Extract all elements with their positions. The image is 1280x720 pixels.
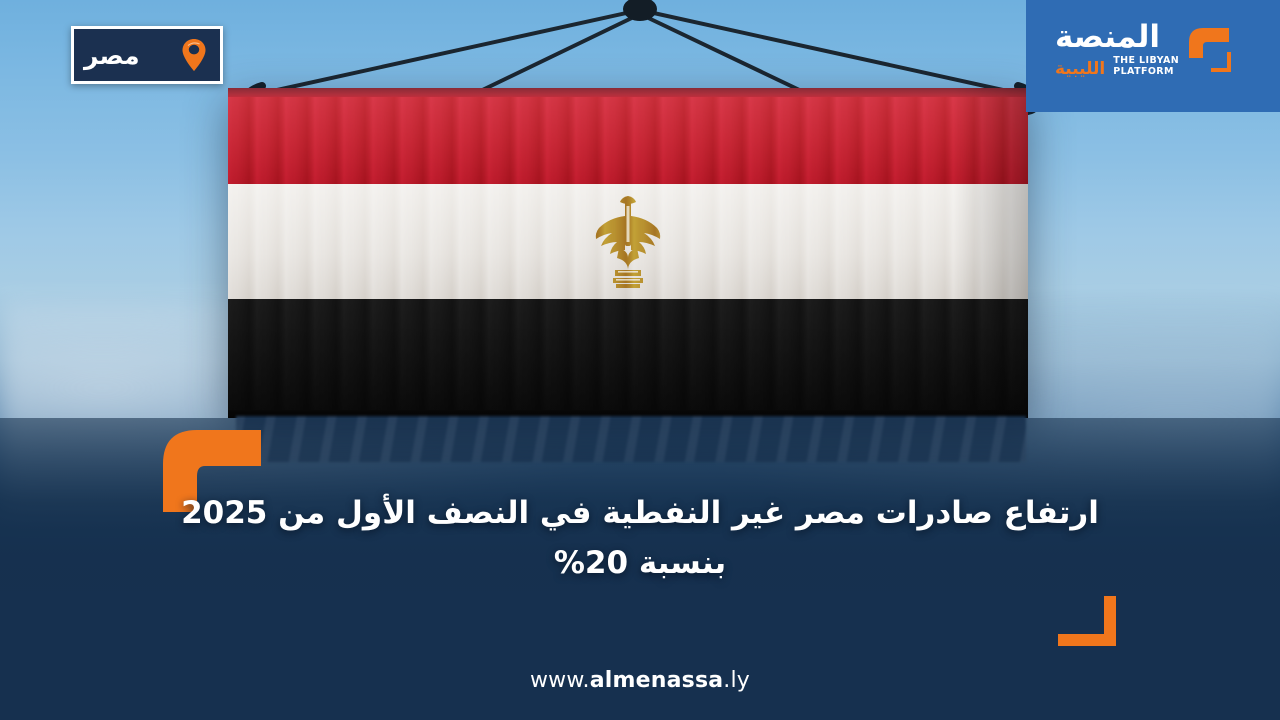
shipping-container-with-egypt-flag xyxy=(228,88,1028,418)
country-badge-label: مصر xyxy=(84,43,140,68)
container-gloss xyxy=(228,88,1028,418)
logo-english-line2: PLATFORM xyxy=(1113,66,1174,77)
headline-line-2: بنسبة 20% xyxy=(150,538,1130,588)
country-badge[interactable]: مصر xyxy=(71,26,223,84)
container-underside-ribs xyxy=(236,416,1026,462)
site-url-prefix: www. xyxy=(530,668,590,693)
logo-arabic-subtitle: الليبية xyxy=(1055,61,1105,78)
frame-bracket-bottom-right-icon xyxy=(1054,594,1126,658)
logo-english-title: THE LIBYAN PLATFORM xyxy=(1113,56,1179,78)
headline-line-1: ارتفاع صادرات مصر غير النفطية في النصف ا… xyxy=(181,495,1099,531)
container-underside xyxy=(236,416,1026,462)
site-url-name: almenassa xyxy=(590,668,724,693)
container-side-shading xyxy=(954,88,1028,418)
site-url[interactable]: www.almenassa.ly xyxy=(0,668,1280,693)
headline: ارتفاع صادرات مصر غير النفطية في النصف ا… xyxy=(150,488,1130,588)
brand-logo[interactable]: المنصة الليبية THE LIBYAN PLATFORM xyxy=(1026,0,1280,112)
logo-english-line1: THE LIBYAN xyxy=(1113,55,1179,66)
logo-arabic-title: المنصة xyxy=(1055,22,1160,53)
location-pin-icon xyxy=(181,38,207,72)
social-media-card: مصر المنصة الليبية THE LIBYAN PLATFORM xyxy=(0,0,1280,720)
site-url-suffix: .ly xyxy=(723,668,750,693)
bracket-logo-mark-icon xyxy=(1185,22,1239,78)
